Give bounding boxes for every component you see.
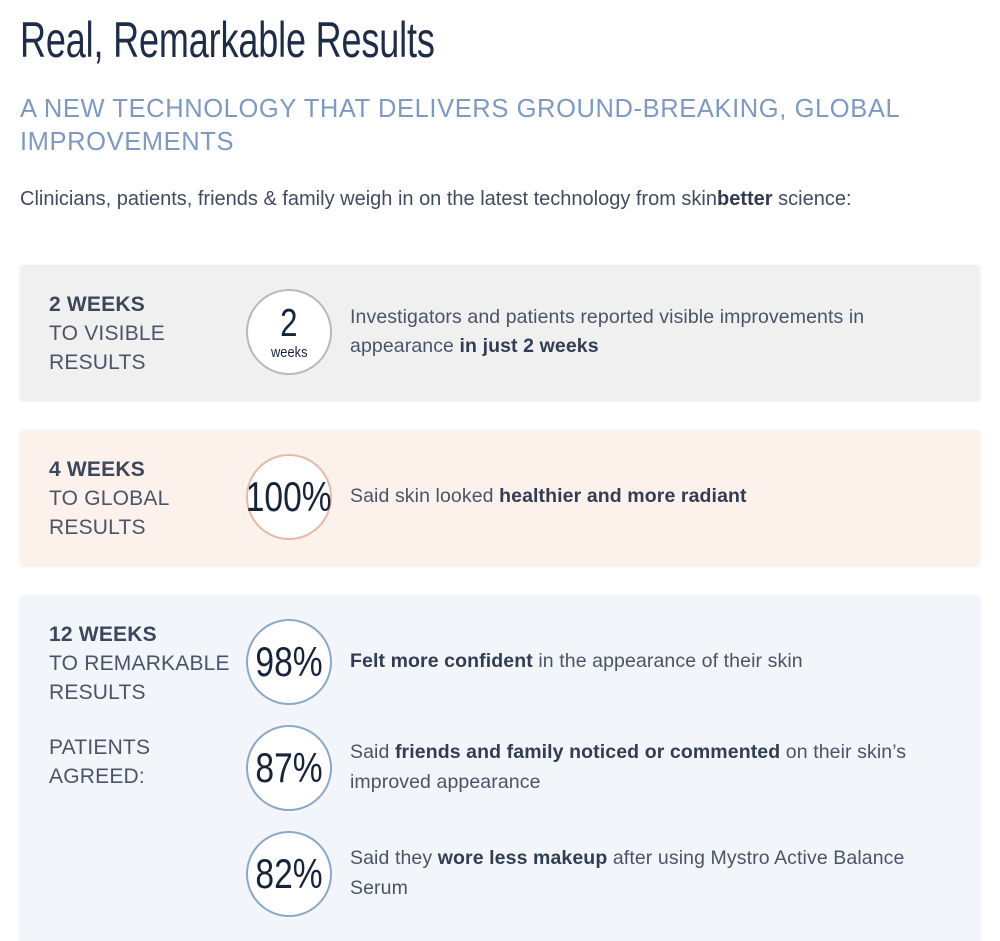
- stat-card: 4 WEEKSTO GLOBAL RESULTS100%Said skin lo…: [20, 430, 980, 565]
- intro-text-bold: better: [717, 188, 773, 210]
- stat-card-label-agreed: PATIENTS AGREED:: [49, 734, 246, 792]
- stat-badge-number: 2: [280, 305, 297, 342]
- stat-badge-circle: 98%: [246, 619, 332, 705]
- stat-card-label-rest: TO GLOBAL RESULTS: [49, 485, 246, 543]
- stat-badge-unit: weeks: [271, 345, 308, 360]
- stat-badge-circle: 82%: [246, 831, 332, 917]
- stat-text-emphasis: in just 2 weeks: [460, 335, 599, 357]
- stat-text-emphasis: Felt more confident: [350, 650, 533, 672]
- stat-card-label-lead: 12 WEEKS: [49, 621, 246, 650]
- header: Real, Remarkable Results A NEW TECHNOLOG…: [0, 0, 1000, 216]
- stat-card-label: 12 WEEKSTO REMARKABLE RESULTSPATIENTS AG…: [20, 595, 246, 941]
- stat-card-rows: 2weeksInvestigators and patients reporte…: [246, 265, 980, 400]
- stat-card: 2 WEEKSTO VISIBLE RESULTS2weeksInvestiga…: [20, 265, 980, 400]
- stat-row: 87%Said friends and family noticed or co…: [246, 715, 980, 821]
- stat-card: 12 WEEKSTO REMARKABLE RESULTSPATIENTS AG…: [20, 595, 980, 941]
- intro-text-suffix: science:: [773, 188, 852, 210]
- stat-badge-number: 100%: [246, 477, 332, 517]
- page-title: Real, Remarkable Results: [20, 14, 711, 67]
- stat-row-text: Felt more confident in the appearance of…: [350, 647, 821, 677]
- stat-row-text: Said friends and family noticed or comme…: [350, 738, 980, 797]
- stat-text-plain: in the appearance of their skin: [533, 650, 803, 672]
- stat-card-label-rest: TO REMARKABLE RESULTS: [49, 650, 246, 708]
- stat-badge-circle: 87%: [246, 725, 332, 811]
- stat-row: 100%Said skin looked healthier and more …: [246, 454, 980, 540]
- stat-row-text: Said they wore less makeup after using M…: [350, 844, 980, 903]
- stat-text-emphasis: wore less makeup: [438, 847, 608, 869]
- stat-row-text: Investigators and patients reported visi…: [350, 303, 980, 362]
- stat-row: 82%Said they wore less makeup after usin…: [246, 821, 980, 927]
- stat-card-label: 2 WEEKSTO VISIBLE RESULTS: [20, 265, 246, 400]
- results-infographic: Real, Remarkable Results A NEW TECHNOLOG…: [0, 0, 1000, 935]
- stat-text-plain: Investigators and patients reported visi…: [350, 306, 864, 358]
- stat-card-label: 4 WEEKSTO GLOBAL RESULTS: [20, 430, 246, 565]
- stat-text-emphasis: healthier and more radiant: [499, 485, 747, 507]
- stat-row: 2weeksInvestigators and patients reporte…: [246, 289, 980, 375]
- stat-badge-circle: 100%: [246, 454, 332, 540]
- stat-card-label-rest: TO VISIBLE RESULTS: [49, 320, 246, 378]
- stat-badge-number: 87%: [255, 748, 322, 788]
- stat-text-plain: Said they: [350, 847, 438, 869]
- stat-card-rows: 100%Said skin looked healthier and more …: [246, 430, 980, 565]
- stat-badge-circle: 2weeks: [246, 289, 332, 375]
- intro-text-prefix: Clinicians, patients, friends & family w…: [20, 188, 717, 210]
- stat-text-emphasis: friends and family noticed or commented: [395, 741, 780, 763]
- stat-card-label-lead: 2 WEEKS: [49, 291, 246, 320]
- intro-paragraph: Clinicians, patients, friends & family w…: [20, 184, 920, 216]
- stat-text-plain: Said: [350, 741, 395, 763]
- stat-row-text: Said skin looked healthier and more radi…: [350, 482, 765, 512]
- stat-badge-number: 98%: [255, 642, 322, 682]
- stat-card-label-lead: 4 WEEKS: [49, 456, 246, 485]
- stat-cards-container: 2 WEEKSTO VISIBLE RESULTS2weeksInvestiga…: [0, 265, 1000, 941]
- stat-row: 98%Felt more confident in the appearance…: [246, 609, 980, 715]
- stat-text-plain: Said skin looked: [350, 485, 499, 507]
- stat-badge-number: 82%: [255, 854, 322, 894]
- stat-card-rows: 98%Felt more confident in the appearance…: [246, 595, 980, 941]
- page-subtitle: A NEW TECHNOLOGY THAT DELIVERS GROUND-BR…: [20, 93, 980, 161]
